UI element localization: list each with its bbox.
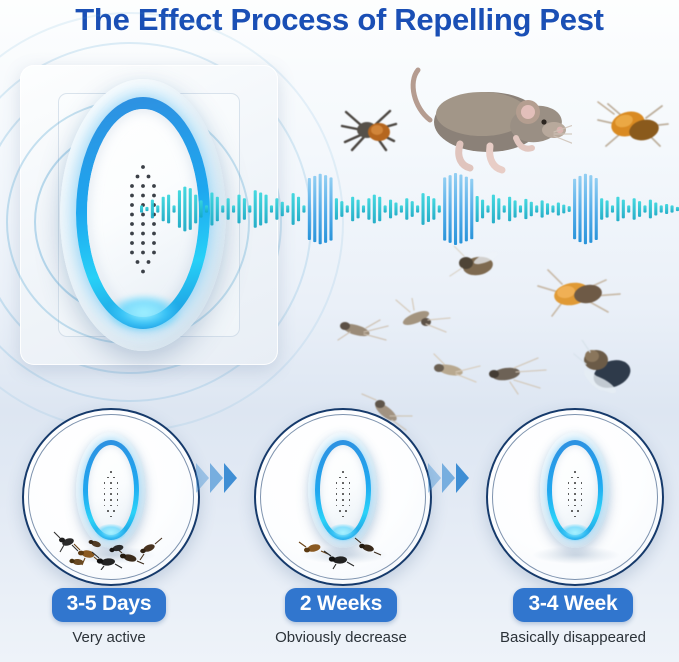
mini-grille-dot — [110, 505, 112, 507]
mini-grille-dot — [342, 488, 344, 490]
mini-grille-dot — [117, 493, 119, 495]
mini-grille-dot — [581, 488, 583, 490]
cockroach-icon — [594, 100, 670, 156]
mini-device-face — [552, 445, 598, 535]
device-shadow — [300, 546, 388, 564]
mini-device-face — [320, 445, 366, 535]
infographic-root: The Effect Process of Repelling Pest — [0, 0, 679, 662]
mini-grille-dot — [342, 482, 344, 484]
mini-grille-dot — [568, 482, 570, 484]
mini-grille-dot — [568, 493, 570, 495]
hero-scene — [0, 52, 679, 392]
mini-grille-dot — [110, 488, 112, 490]
stage-badge-3: 3-4 Week — [513, 588, 632, 622]
stage-label-1: 3-5 Days Very active — [9, 588, 209, 646]
chevron-right-icon — [224, 463, 237, 493]
mini-grille-dot — [571, 477, 573, 479]
mosquito-icon — [426, 352, 484, 386]
mini-device-led-glow — [328, 524, 358, 541]
mini-grille-dot — [336, 499, 338, 501]
mini-grille-dot — [336, 482, 338, 484]
stage-badge-1: 3-5 Days — [52, 588, 167, 622]
mini-grille-dot — [574, 482, 576, 484]
mini-device-ring — [83, 440, 139, 540]
mini-grille-dot — [110, 471, 112, 473]
mini-grille-dot — [110, 516, 112, 518]
mini-grille-dot — [581, 482, 583, 484]
mini-grille-dot — [104, 493, 106, 495]
mini-grille-dot — [349, 488, 351, 490]
mini-grille-dot — [104, 488, 106, 490]
fly-icon — [572, 340, 648, 400]
mini-grille-dot — [574, 493, 576, 495]
mini-grille-dot — [342, 516, 344, 518]
mini-grille-dot — [104, 505, 106, 507]
mini-grille-dot — [339, 510, 341, 512]
mini-device-2 — [308, 432, 378, 548]
mini-grille-dot — [342, 493, 344, 495]
mini-grille-dot — [581, 505, 583, 507]
stage-badge-2: 2 Weeks — [285, 588, 397, 622]
mini-device-3 — [540, 432, 610, 548]
mini-grille-dot — [568, 488, 570, 490]
mini-grille-dot — [349, 482, 351, 484]
mini-grille-dot — [110, 493, 112, 495]
mini-grille-dot — [568, 505, 570, 507]
mini-grille-dot — [113, 510, 115, 512]
mini-device-led-glow — [560, 524, 590, 541]
chevron-right-icon — [196, 463, 209, 493]
mini-grille-dot — [577, 510, 579, 512]
mini-device-1 — [76, 432, 146, 548]
chevron-right-icon — [456, 463, 469, 493]
spider-icon — [336, 100, 400, 156]
stage-circle-2 — [254, 408, 432, 586]
pest-cluster-2 — [296, 534, 396, 570]
mini-grille-dot — [339, 477, 341, 479]
chevron-right-icon — [442, 463, 455, 493]
mini-grille-dot — [574, 488, 576, 490]
mini-grille-dot — [113, 477, 115, 479]
mini-grille-dot — [104, 482, 106, 484]
mini-grille-dot — [117, 488, 119, 490]
mini-grille-dot — [336, 493, 338, 495]
mini-grille-dot — [349, 505, 351, 507]
pest-cluster-1 — [52, 526, 172, 570]
chevron-right-icon — [210, 463, 223, 493]
stage-caption-3: Basically disappeared — [473, 629, 673, 646]
stage-caption-2: Obviously decrease — [241, 629, 441, 646]
mini-grille-dot — [349, 493, 351, 495]
stage-circle-3 — [486, 408, 664, 586]
mini-grille-dot — [342, 499, 344, 501]
mini-grille-dot — [574, 505, 576, 507]
mini-device-ring — [547, 440, 603, 540]
mini-grille-dot — [345, 477, 347, 479]
stage-label-2: 2 Weeks Obviously decrease — [241, 588, 441, 646]
mini-grille-dot — [345, 510, 347, 512]
mini-grille-dot — [574, 471, 576, 473]
mini-grille-dot — [107, 477, 109, 479]
mini-grille-dot — [110, 482, 112, 484]
mini-device-ring — [315, 440, 371, 540]
mini-grille-dot — [104, 499, 106, 501]
mini-device-led-glow — [96, 524, 126, 541]
mini-grille-dot — [581, 493, 583, 495]
mini-grille-dot — [571, 510, 573, 512]
mini-grille-dot — [581, 499, 583, 501]
device-shadow — [68, 546, 156, 564]
fly-icon — [448, 246, 510, 286]
mosquito-icon — [390, 298, 452, 336]
chevron-right-icon — [428, 463, 441, 493]
device-led-glow — [107, 294, 181, 332]
arrow-group-2 — [428, 463, 469, 493]
mini-grille-dot — [574, 516, 576, 518]
mini-grille-dot — [107, 510, 109, 512]
cockroach-icon — [536, 268, 622, 326]
mini-device-face — [88, 445, 134, 535]
device-shadow — [532, 546, 620, 564]
mini-grille-dot — [574, 499, 576, 501]
mini-grille-dot — [568, 499, 570, 501]
arrow-group-1 — [196, 463, 237, 493]
rat-icon — [404, 62, 572, 184]
mini-grille-dot — [336, 505, 338, 507]
mini-grille-dot — [336, 488, 338, 490]
stage-labels: 3-5 Days Very active 2 Weeks Obviously d… — [0, 588, 679, 662]
stage-caption-1: Very active — [9, 629, 209, 646]
mini-grille-dot — [117, 482, 119, 484]
mini-grille-dot — [342, 471, 344, 473]
stage-label-3: 3-4 Week Basically disappeared — [473, 588, 673, 646]
mini-grille-dot — [110, 499, 112, 501]
mini-grille-dot — [117, 505, 119, 507]
mini-grille-dot — [117, 499, 119, 501]
mini-grille-dot — [342, 505, 344, 507]
mini-grille-dot — [577, 477, 579, 479]
stage-circle-1 — [22, 408, 200, 586]
mosquito-icon — [480, 352, 550, 396]
mosquito-icon — [336, 314, 392, 346]
mini-grille-dot — [349, 499, 351, 501]
